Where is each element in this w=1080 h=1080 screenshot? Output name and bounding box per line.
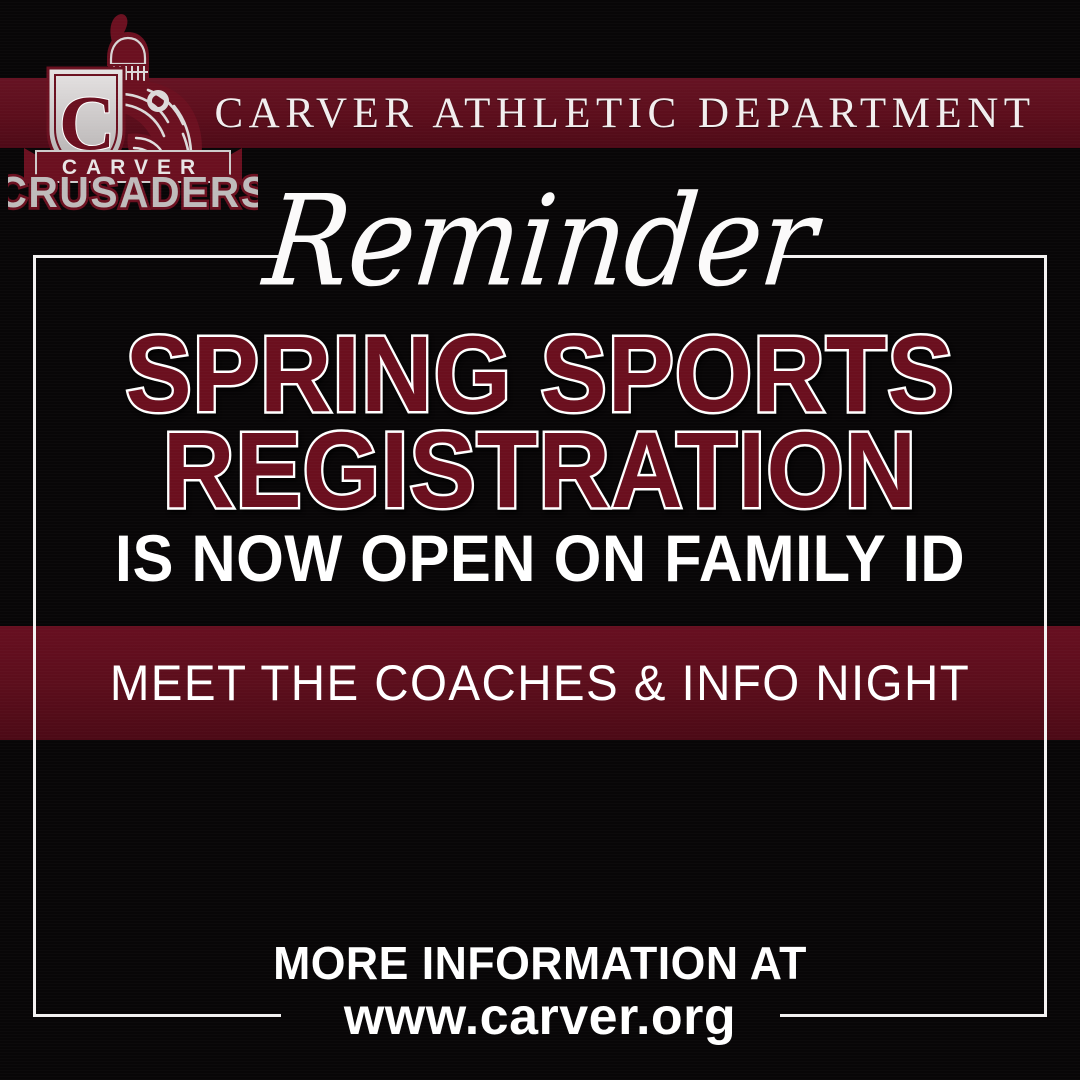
subheadline: IS NOW OPEN ON FAMILY ID bbox=[38, 525, 1042, 591]
poster-canvas: CARVER ATHLETIC DEPARTMENT bbox=[0, 0, 1080, 1080]
eyebrow-reminder: Reminder bbox=[0, 179, 1080, 304]
footer-website-url[interactable]: www.carver.org bbox=[0, 991, 1080, 1044]
footer: MORE INFORMATION AT www.carver.org bbox=[0, 940, 1080, 1044]
footer-more-info-label: MORE INFORMATION AT bbox=[16, 940, 1064, 987]
event-strip-text: MEET THE COACHES & INFO NIGHT bbox=[27, 626, 1053, 740]
headline-line-2: REGISTRATION bbox=[43, 418, 1037, 522]
